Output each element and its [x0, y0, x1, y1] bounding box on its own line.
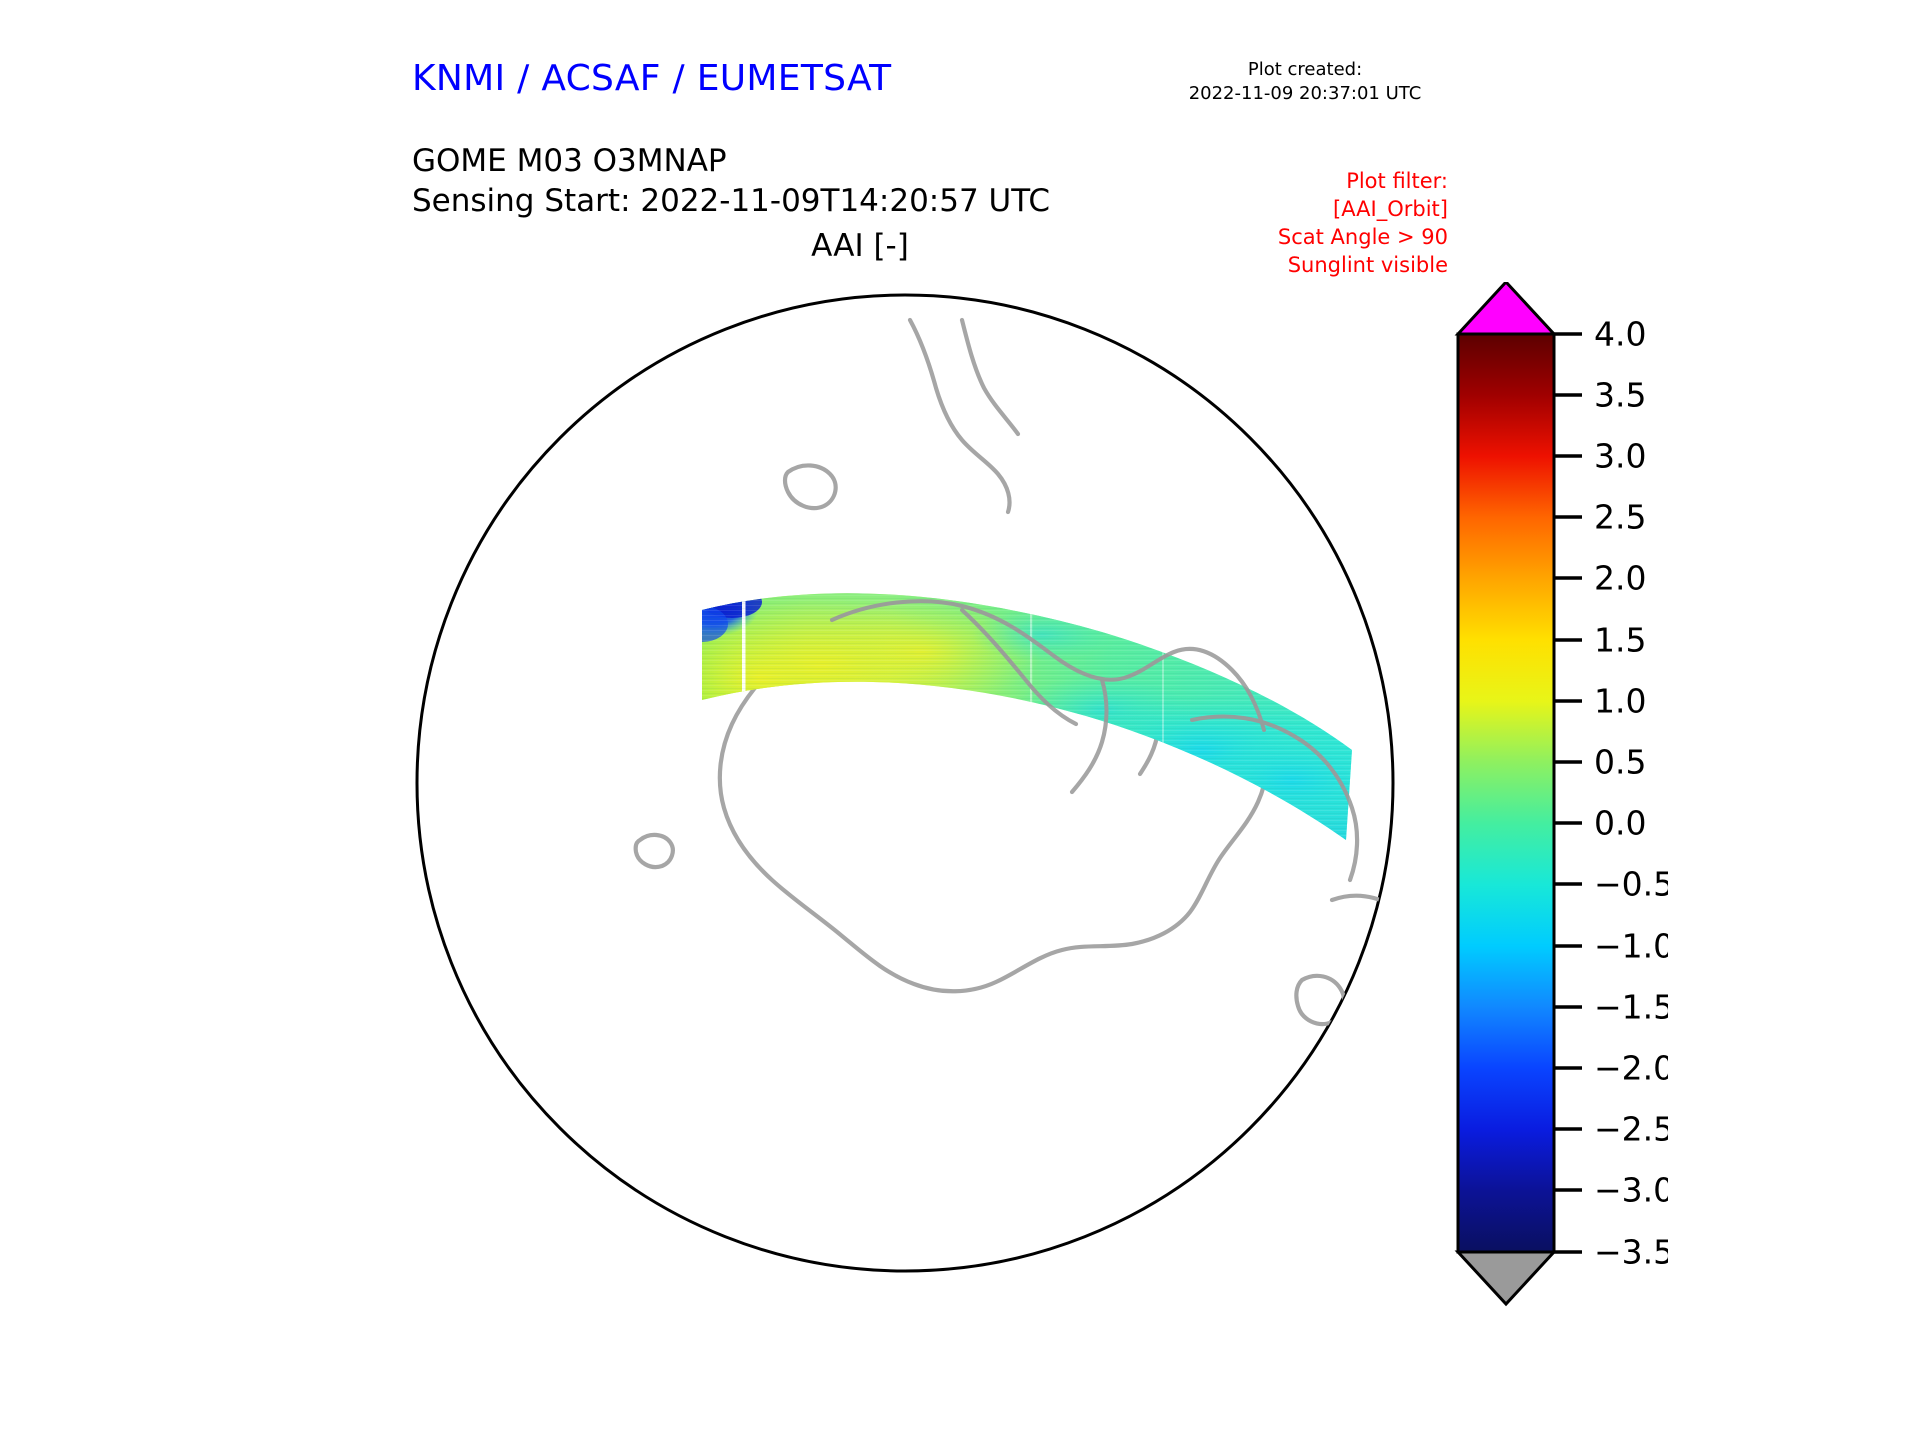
- plot-created-block: Plot created: 2022-11-09 20:37:01 UTC: [1160, 58, 1450, 106]
- colorbar-tick-label: −2.0: [1594, 1049, 1668, 1088]
- colorbar-over-range-arrow: [1458, 282, 1554, 334]
- colorbar-gradient: [1458, 334, 1554, 1252]
- instrument-title: GOME M03 O3MNAP: [412, 142, 1050, 182]
- colorbar-tick-label: 2.5: [1594, 498, 1646, 537]
- plot-filter-block: Plot filter: [AAI_Orbit] Scat Angle > 90…: [1155, 168, 1448, 280]
- colorbar-tick-label: −3.5: [1594, 1233, 1668, 1272]
- colorbar-panel: 4.0 3.5 3.0 2.5 2.0 1.5 1.0 0.5 0.0 −0.5…: [1448, 282, 1668, 1312]
- colorbar-tick-label: 0.5: [1594, 743, 1646, 782]
- colorbar-tick-label: 4.0: [1594, 315, 1646, 354]
- colorbar-tick-label: 2.0: [1594, 559, 1646, 598]
- colorbar-tick-label: 0.0: [1594, 804, 1646, 843]
- plot-filter-scat-angle: Scat Angle > 90: [1155, 224, 1448, 252]
- plot-filter-name: [AAI_Orbit]: [1155, 196, 1448, 224]
- globe-outline: [417, 295, 1393, 1271]
- colorbar-tick-label: −3.0: [1594, 1171, 1668, 1210]
- plot-filter-label: Plot filter:: [1155, 168, 1448, 196]
- globe-group: [417, 295, 1422, 1271]
- plot-created-label: Plot created:: [1160, 58, 1450, 82]
- plot-filter-sunglint: Sunglint visible: [1155, 252, 1448, 280]
- plot-title-block: GOME M03 O3MNAP Sensing Start: 2022-11-0…: [412, 142, 1050, 221]
- sensing-start-title: Sensing Start: 2022-11-09T14:20:57 UTC: [412, 182, 1050, 222]
- colorbar-ticks: [1554, 334, 1582, 1252]
- colorbar-tick-labels: 4.0 3.5 3.0 2.5 2.0 1.5 1.0 0.5 0.0 −0.5…: [1594, 315, 1668, 1272]
- map-panel: [402, 280, 1432, 1310]
- colorbar-tick-label: −2.5: [1594, 1110, 1668, 1149]
- colorbar-tick-label: 3.0: [1594, 437, 1646, 476]
- colorbar-tick-label: 1.5: [1594, 621, 1646, 660]
- colorbar-tick-label: 1.0: [1594, 682, 1646, 721]
- colorbar-tick-label: −0.5: [1594, 865, 1668, 904]
- plot-canvas: KNMI / ACSAF / EUMETSAT Plot created: 20…: [0, 0, 1920, 1440]
- colorbar-tick-label: −1.0: [1594, 927, 1668, 966]
- colorbar-tick-label: 3.5: [1594, 376, 1646, 415]
- colorbar-tick-label: −1.5: [1594, 988, 1668, 1027]
- colorbar-under-range-arrow: [1458, 1252, 1554, 1304]
- plot-created-timestamp: 2022-11-09 20:37:01 UTC: [1160, 82, 1450, 106]
- organisation-header: KNMI / ACSAF / EUMETSAT: [412, 58, 891, 99]
